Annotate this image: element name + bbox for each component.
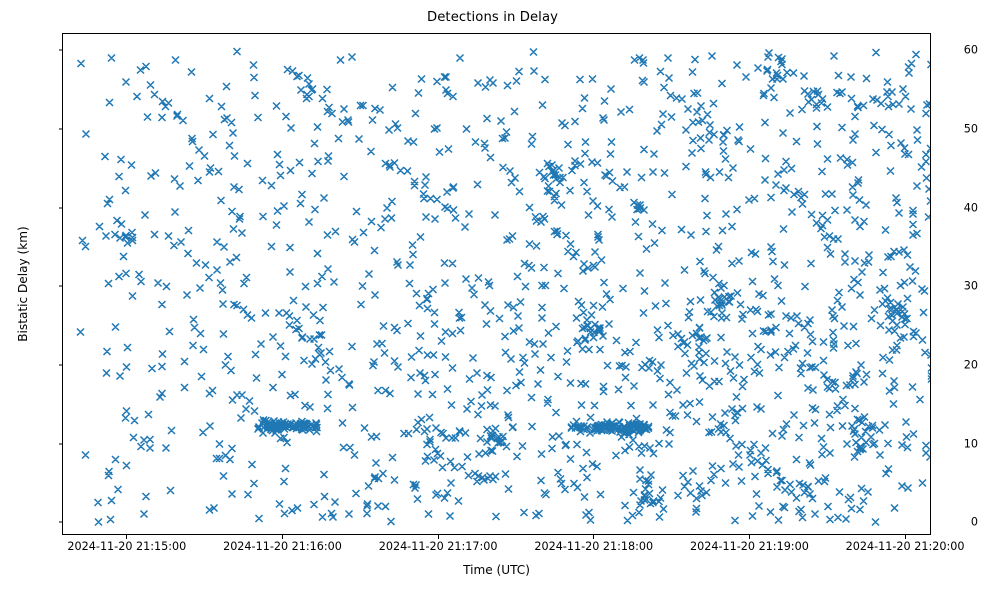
x-tick-label: 2024-11-20 21:20:00 — [846, 540, 965, 553]
y-tick-label: 60 — [964, 44, 978, 57]
x-axis-label: Time (UTC) — [62, 563, 931, 577]
x-tick-label: 2024-11-20 21:16:00 — [223, 540, 342, 553]
y-axis-label: Bistatic Delay (km) — [16, 33, 34, 535]
y-tick-mark — [59, 365, 63, 366]
x-tick-label: 2024-11-20 21:15:00 — [67, 540, 186, 553]
y-tick-mark — [59, 443, 63, 444]
y-tick-label: 30 — [964, 280, 978, 293]
y-tick-label: 50 — [964, 122, 978, 135]
y-tick-label: 20 — [964, 359, 978, 372]
x-tick-mark — [905, 535, 906, 539]
y-tick-label: 0 — [971, 516, 978, 529]
x-tick-mark — [438, 535, 439, 539]
y-tick-mark — [59, 522, 63, 523]
x-tick-mark — [749, 535, 750, 539]
y-tick-mark — [59, 128, 63, 129]
scatter-points — [63, 34, 930, 534]
x-tick-label: 2024-11-20 21:18:00 — [534, 540, 653, 553]
x-tick-mark — [282, 535, 283, 539]
x-tick-label: 2024-11-20 21:19:00 — [690, 540, 809, 553]
y-tick-mark — [59, 207, 63, 208]
figure: Detections in Delay Bistatic Delay (km) … — [0, 0, 985, 590]
y-tick-label: 10 — [964, 437, 978, 450]
y-tick-mark — [59, 286, 63, 287]
x-tick-mark — [126, 535, 127, 539]
scatter-series — [63, 34, 930, 534]
page-title: Detections in Delay — [0, 10, 985, 25]
y-tick-mark — [59, 50, 63, 51]
y-tick-label: 40 — [964, 201, 978, 214]
x-tick-label: 2024-11-20 21:17:00 — [379, 540, 498, 553]
x-tick-mark — [593, 535, 594, 539]
plot-area[interactable] — [62, 33, 931, 535]
